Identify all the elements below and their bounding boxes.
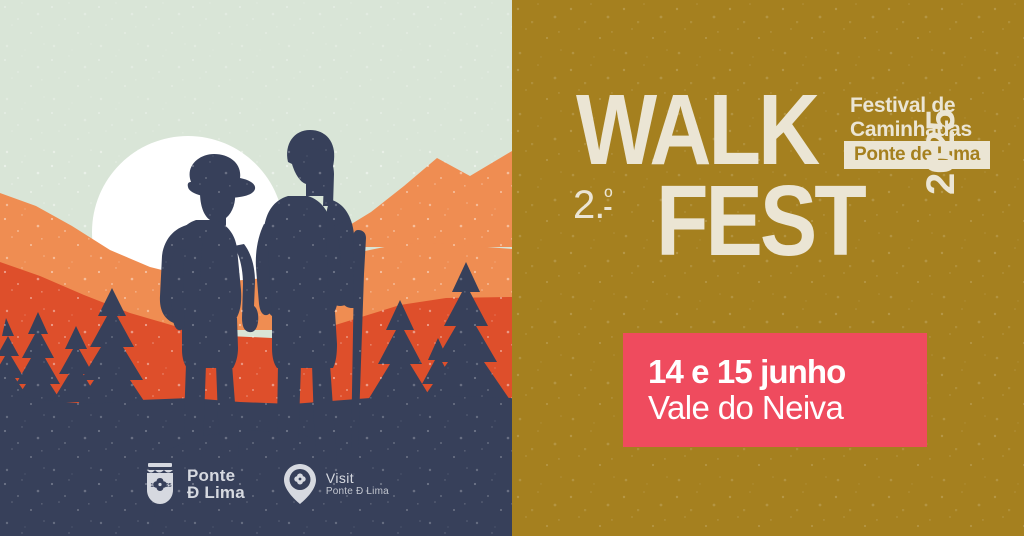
crest-left-number: 11 xyxy=(151,483,157,489)
location-tag: Ponte de Lima xyxy=(844,141,990,169)
logo-ponte-de-lima-text: Ponte Ð Lima xyxy=(187,467,245,502)
event-details-text: 14 e 15 junho Vale do Neiva xyxy=(648,355,845,426)
logo-visit-line-1: Visit xyxy=(326,470,389,487)
title-word-walk: WALK xyxy=(576,92,817,170)
illustration-panel: 11 25 Ponte Ð Lima Visit Ponte Ð Lima xyxy=(0,0,512,536)
typography-panel: 2.º WALK FEST Festival de Caminhadas Pon… xyxy=(512,0,1024,536)
edition-ordinal: 2.º xyxy=(573,185,611,225)
logo-line-1: Ponte xyxy=(187,467,245,484)
logo-line-2: Ð Lima xyxy=(187,484,245,501)
landscape-illustration xyxy=(0,0,512,536)
event-dates: 14 e 15 junho xyxy=(648,355,845,390)
crest-right-number: 25 xyxy=(166,483,172,489)
edition-number: 2. xyxy=(573,183,604,227)
shield-crest-icon: 11 25 xyxy=(142,462,178,506)
edition-ordinal-marker: º xyxy=(604,184,611,209)
logo-ponte-de-lima[interactable]: 11 25 Ponte Ð Lima xyxy=(142,462,245,506)
edition-year: 2025 xyxy=(921,110,961,195)
title-word-fest: FEST xyxy=(656,183,864,261)
poster-canvas: 11 25 Ponte Ð Lima Visit Ponte Ð Lima xyxy=(0,0,1024,536)
logo-visit-text: Visit Ponte Ð Lima xyxy=(326,470,389,498)
logo-row: 11 25 Ponte Ð Lima Visit Ponte Ð Lima xyxy=(142,462,389,506)
event-location: Vale do Neiva xyxy=(648,390,845,426)
logo-visit-line-2: Ponte Ð Lima xyxy=(326,486,389,498)
event-details-box: 14 e 15 junho Vale do Neiva xyxy=(623,333,927,447)
logo-visit-ponte-de-lima[interactable]: Visit Ponte Ð Lima xyxy=(283,463,389,505)
map-pin-icon xyxy=(283,463,317,505)
